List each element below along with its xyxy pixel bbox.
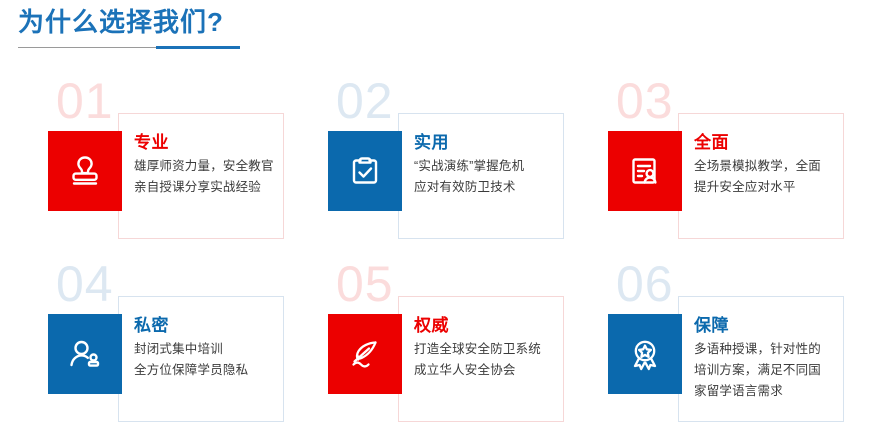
card-text-block: 保障 多语种授课，针对性的 培训方案，满足不同国 家留学语言需求 xyxy=(694,315,871,401)
card-description: 全场景模拟教学，全面 提升安全应对水平 xyxy=(694,156,871,197)
underline-blue-segment xyxy=(156,46,240,49)
card-description: 打造全球安全防卫系统 成立华人安全协会 xyxy=(414,339,608,380)
feature-card-grid: 01 专业 雄厚师资力量，安全教官 亲自授课分享实战经验 02 xyxy=(0,72,871,432)
card-description-line: 成立华人安全协会 xyxy=(414,360,608,381)
card-title: 全面 xyxy=(694,132,871,153)
id-card-person-icon xyxy=(608,131,682,211)
card-description-line: 封闭式集中培训 xyxy=(134,339,328,360)
card-description: 封闭式集中培训 全方位保障学员隐私 xyxy=(134,339,328,380)
person-badge-icon xyxy=(48,314,122,394)
quill-pen-icon xyxy=(328,314,402,394)
clipboard-check-icon xyxy=(328,131,402,211)
stamp-icon xyxy=(48,131,122,211)
section-header: 为什么选择我们? xyxy=(18,8,418,49)
card-description-line: 培训方案，满足不同国 xyxy=(694,360,871,381)
card-text-block: 实用 “实战演练”掌握危机 应对有效防卫技术 xyxy=(414,132,608,198)
card-number: 02 xyxy=(336,76,394,126)
card-title: 保障 xyxy=(694,315,871,336)
card-text-block: 全面 全场景模拟教学，全面 提升安全应对水平 xyxy=(694,132,871,198)
card-description: “实战演练”掌握危机 应对有效防卫技术 xyxy=(414,156,608,197)
card-number: 04 xyxy=(56,259,114,309)
card-description: 多语种授课，针对性的 培训方案，满足不同国 家留学语言需求 xyxy=(694,339,871,401)
feature-card-01[interactable]: 01 专业 雄厚师资力量，安全教官 亲自授课分享实战经验 xyxy=(48,72,328,247)
feature-card-06[interactable]: 06 保障 多语种授课，针对性的 培训方案，满足不同国 家留学语言需求 xyxy=(608,255,871,430)
card-number: 03 xyxy=(616,76,674,126)
card-number: 01 xyxy=(56,76,114,126)
card-description-line: 全场景模拟教学，全面 xyxy=(694,156,871,177)
card-title: 专业 xyxy=(134,132,328,153)
card-text-block: 私密 封闭式集中培训 全方位保障学员隐私 xyxy=(134,315,328,381)
card-title: 实用 xyxy=(414,132,608,153)
feature-card-02[interactable]: 02 实用 “实战演练”掌握危机 应对有效防卫技术 xyxy=(328,72,608,247)
card-description-line: 家留学语言需求 xyxy=(694,381,871,402)
title-underline xyxy=(18,46,240,49)
card-text-block: 专业 雄厚师资力量，安全教官 亲自授课分享实战经验 xyxy=(134,132,328,198)
card-description-line: 多语种授课，针对性的 xyxy=(694,339,871,360)
card-description-line: 提升安全应对水平 xyxy=(694,177,871,198)
card-description-line: 应对有效防卫技术 xyxy=(414,177,608,198)
card-number: 05 xyxy=(336,259,394,309)
card-number: 06 xyxy=(616,259,674,309)
card-description-line: 全方位保障学员隐私 xyxy=(134,360,328,381)
card-title: 私密 xyxy=(134,315,328,336)
feature-card-04[interactable]: 04 私密 封闭式集中培训 全方位保障学员隐私 xyxy=(48,255,328,430)
card-description-line: 亲自授课分享实战经验 xyxy=(134,177,328,198)
card-text-block: 权威 打造全球安全防卫系统 成立华人安全协会 xyxy=(414,315,608,381)
feature-card-03[interactable]: 03 全面 全场景模拟教学，全面 提升安全应对水平 xyxy=(608,72,871,247)
card-description: 雄厚师资力量，安全教官 亲自授课分享实战经验 xyxy=(134,156,328,197)
card-description-line: 雄厚师资力量，安全教官 xyxy=(134,156,328,177)
card-description-line: “实战演练”掌握危机 xyxy=(414,156,608,177)
card-description-line: 打造全球安全防卫系统 xyxy=(414,339,608,360)
medal-star-icon xyxy=(608,314,682,394)
page-title: 为什么选择我们? xyxy=(18,8,418,38)
card-title: 权威 xyxy=(414,315,608,336)
feature-card-05[interactable]: 05 权威 打造全球安全防卫系统 成立华人安全协会 xyxy=(328,255,608,430)
